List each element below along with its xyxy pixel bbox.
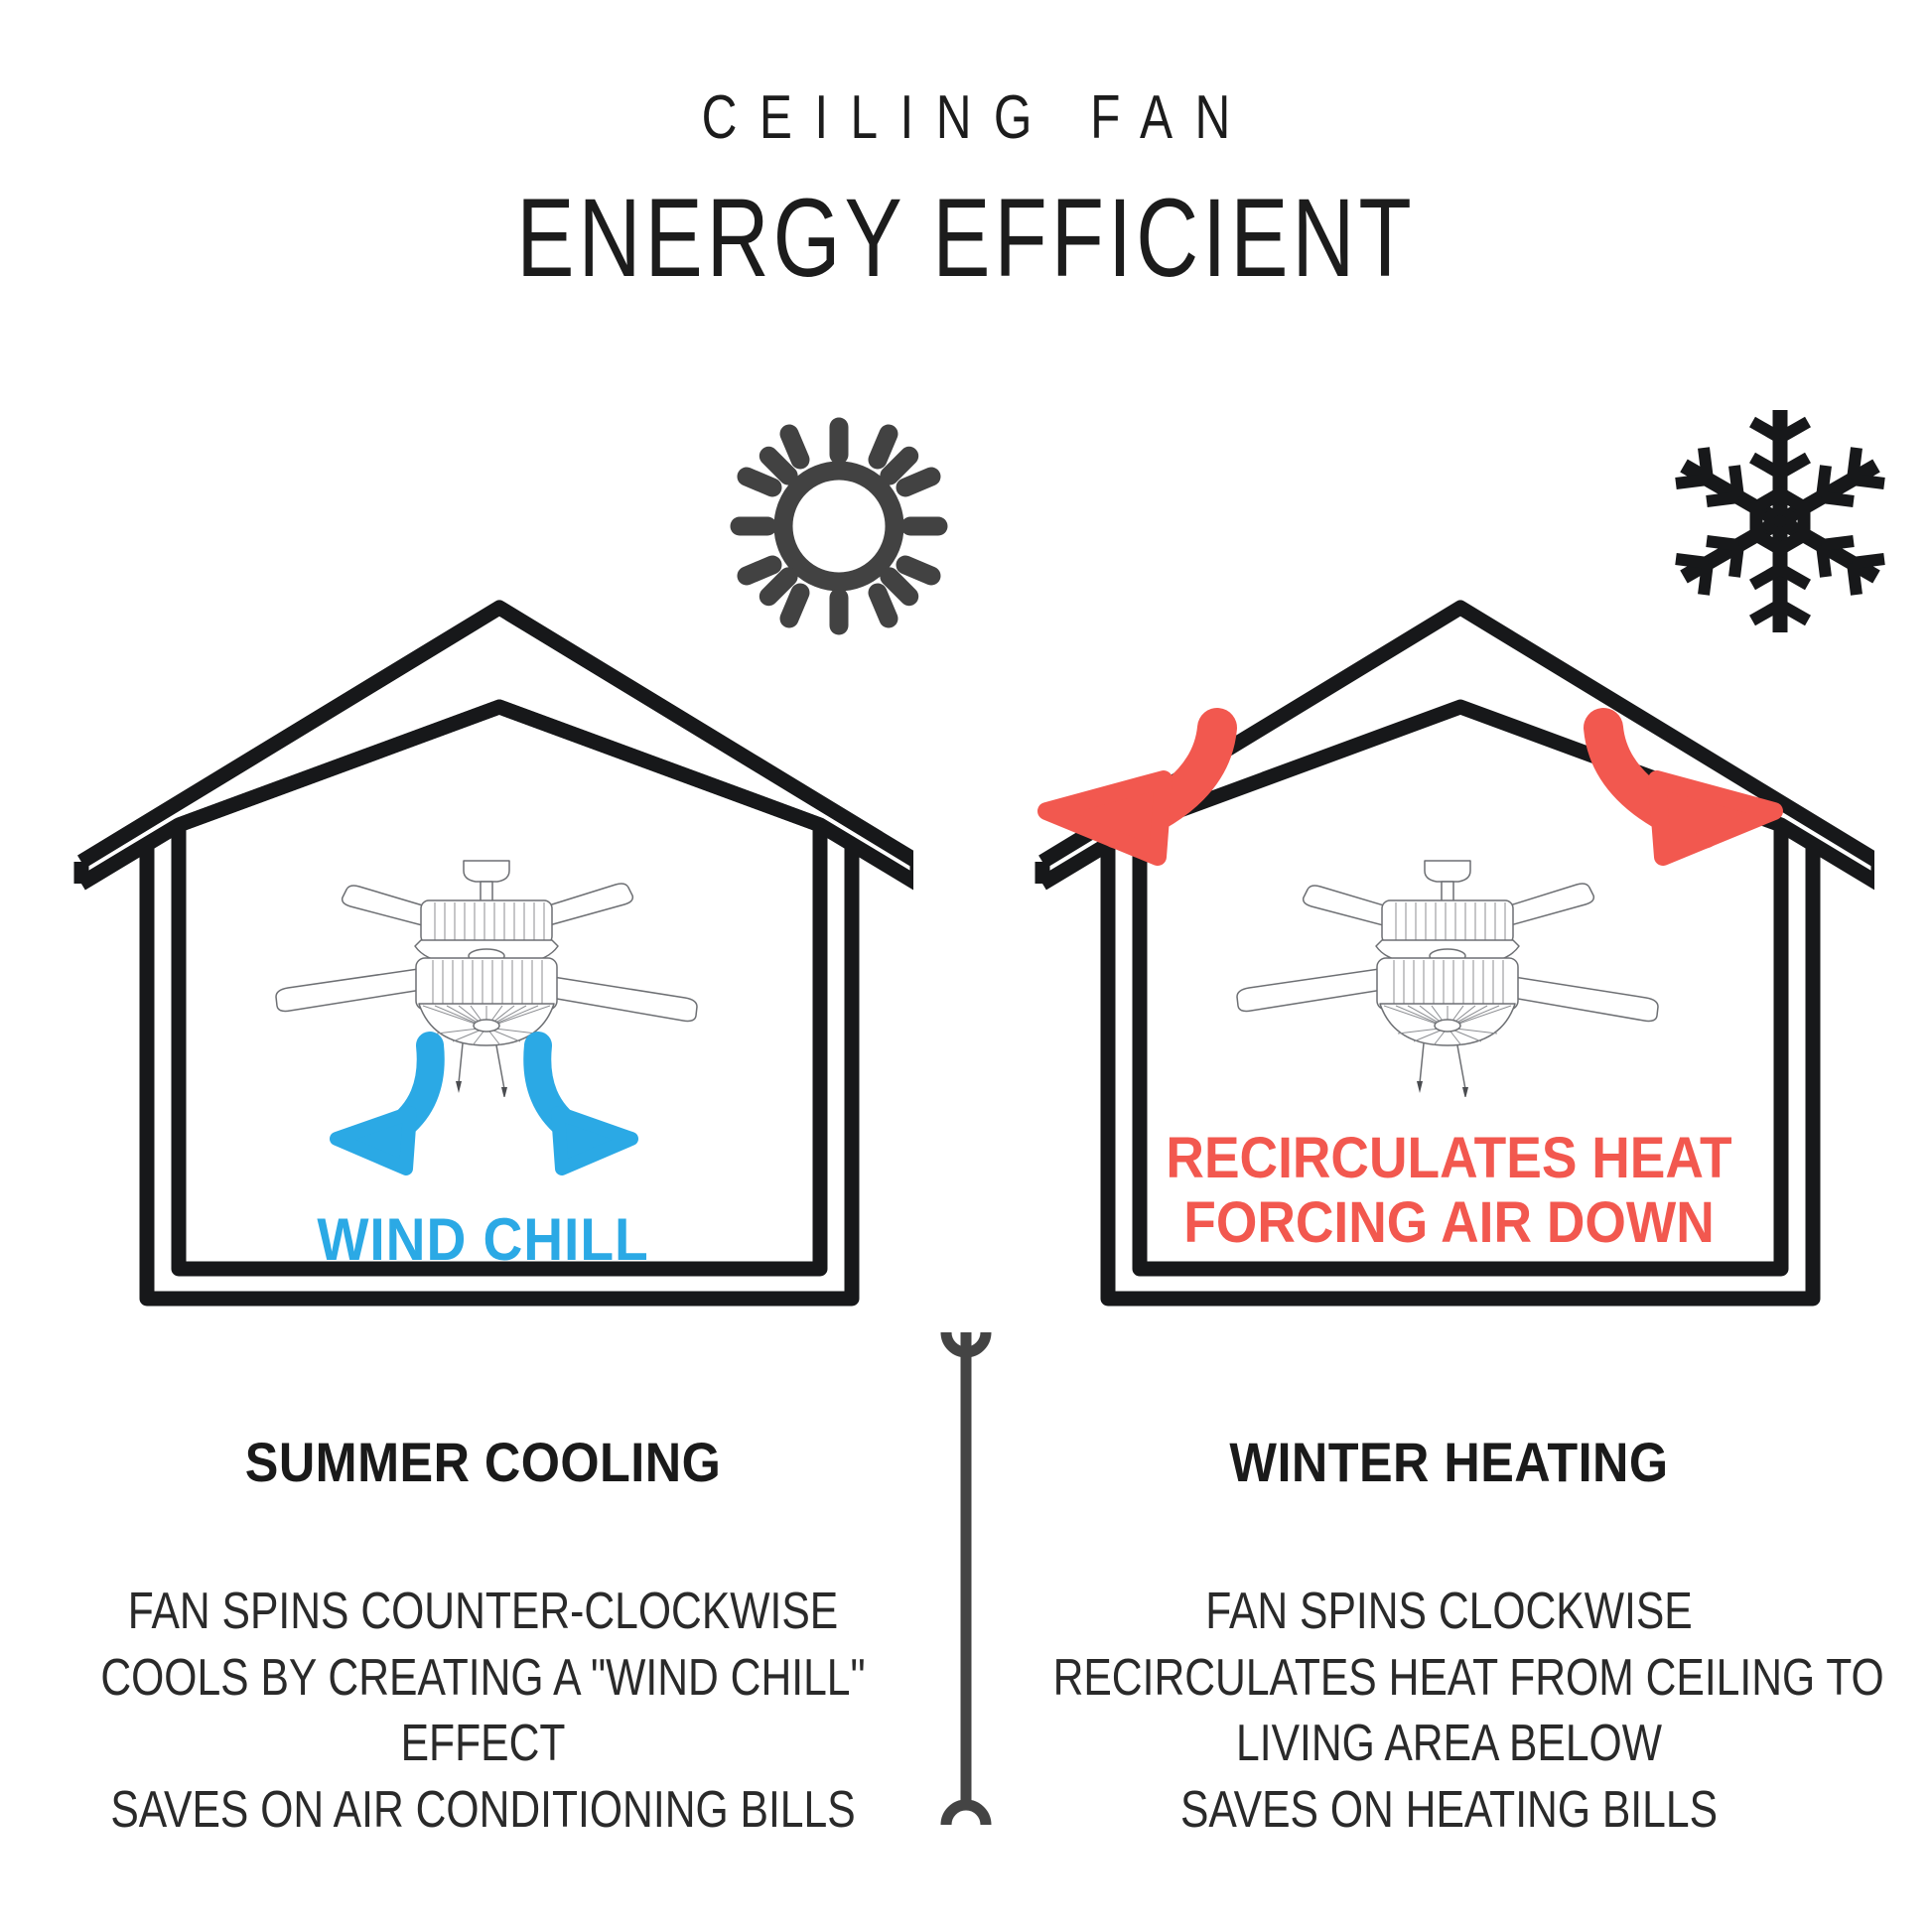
body-line: COOLS BY CREATING A "WIND CHILL" [87,1645,880,1712]
body-line: LIVING AREA BELOW [1053,1711,1846,1777]
body-line: FAN SPINS COUNTER-CLOCKWISE [87,1579,880,1645]
airflow-arrow-left-blue [293,1028,452,1186]
callout-winter: RECIRCULATES HEAT FORCING AIR DOWN [1005,1127,1893,1256]
body-line: FAN SPINS CLOCKWISE [1053,1579,1846,1645]
section-heading-winter: WINTER HEATING [1015,1430,1884,1494]
panel-summer: WIND CHILL SUMMER COOLING FAN SPINS COUN… [0,0,966,1932]
callout-line: WIND CHILL [317,1206,648,1273]
callout-line: FORCING AIR DOWN [1183,1190,1715,1255]
body-line: SAVES ON HEATING BILLS [1053,1777,1846,1844]
panel-winter: RECIRCULATES HEAT FORCING AIR DOWN WINTE… [966,0,1932,1932]
callout-summer: WIND CHILL [39,1206,927,1273]
body-line: EFFECT [87,1711,880,1777]
airflow-arrow-right-blue [516,1028,675,1186]
body-line: RECIRCULATES HEAT FROM CEILING TO [1053,1645,1846,1712]
callout-line: RECIRCULATES HEAT [1166,1126,1731,1190]
body-copy-summer: FAN SPINS COUNTER-CLOCKWISE COOLS BY CRE… [0,1579,966,1843]
airflow-arrow-left-red [961,680,1249,928]
body-copy-winter: FAN SPINS CLOCKWISE RECIRCULATES HEAT FR… [966,1579,1932,1843]
airflow-arrow-right-red [1572,680,1860,928]
body-line: SAVES ON AIR CONDITIONING BILLS [87,1777,880,1844]
vertical-divider [933,1320,999,1837]
section-heading-summer: SUMMER COOLING [49,1430,918,1494]
infographic-canvas: CEILING FAN ENERGY EFFICIENT [0,0,1932,1932]
